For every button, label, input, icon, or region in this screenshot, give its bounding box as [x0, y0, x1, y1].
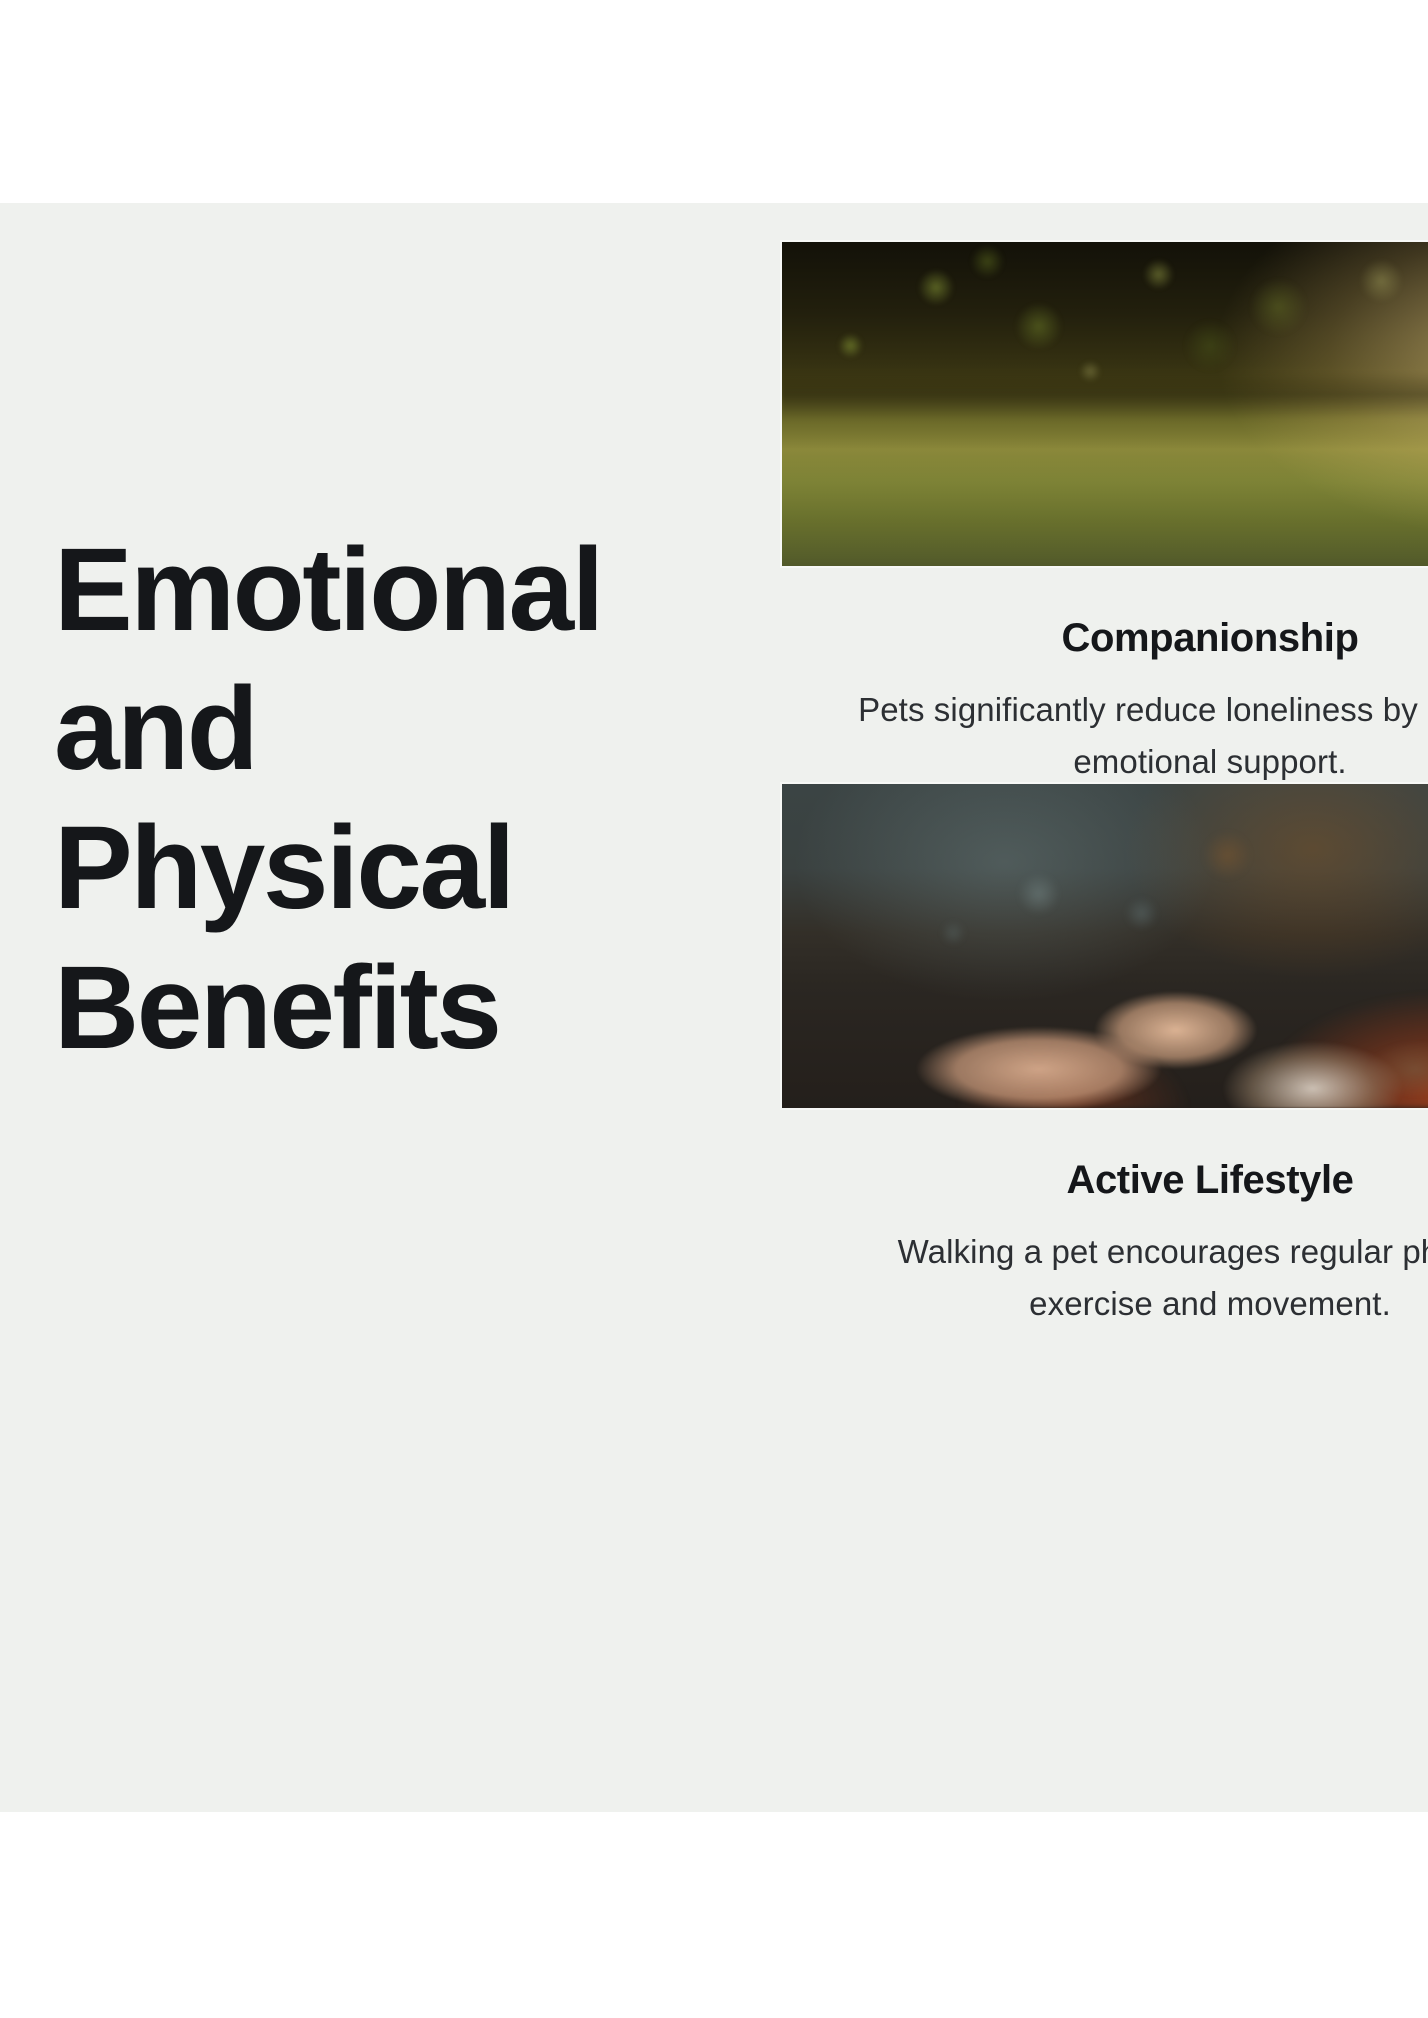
title-block: Emotional and Physical Benefits — [54, 521, 714, 1078]
slide: Emotional and Physical Benefits Companio… — [0, 203, 1428, 1812]
page-canvas: Emotional and Physical Benefits Companio… — [0, 0, 1428, 2018]
card-image-frame — [780, 240, 1428, 568]
page-title: Emotional and Physical Benefits — [54, 521, 714, 1078]
card-description: Pets significantly reduce loneliness by … — [780, 662, 1428, 788]
benefit-card-active-lifestyle[interactable]: Active Lifestyle Walking a pet encourage… — [780, 782, 1428, 1330]
card-image-frame — [780, 782, 1428, 1110]
benefit-card-companionship[interactable]: Companionship Pets significantly reduce … — [780, 240, 1428, 788]
photo-hand-petting-cat — [782, 784, 1428, 1108]
card-title: Companionship — [780, 568, 1428, 662]
card-title: Active Lifestyle — [780, 1110, 1428, 1204]
card-description: Walking a pet encourages regular physica… — [780, 1204, 1428, 1330]
photo-person-walking-dog-in-sunlit-garden — [782, 242, 1428, 566]
